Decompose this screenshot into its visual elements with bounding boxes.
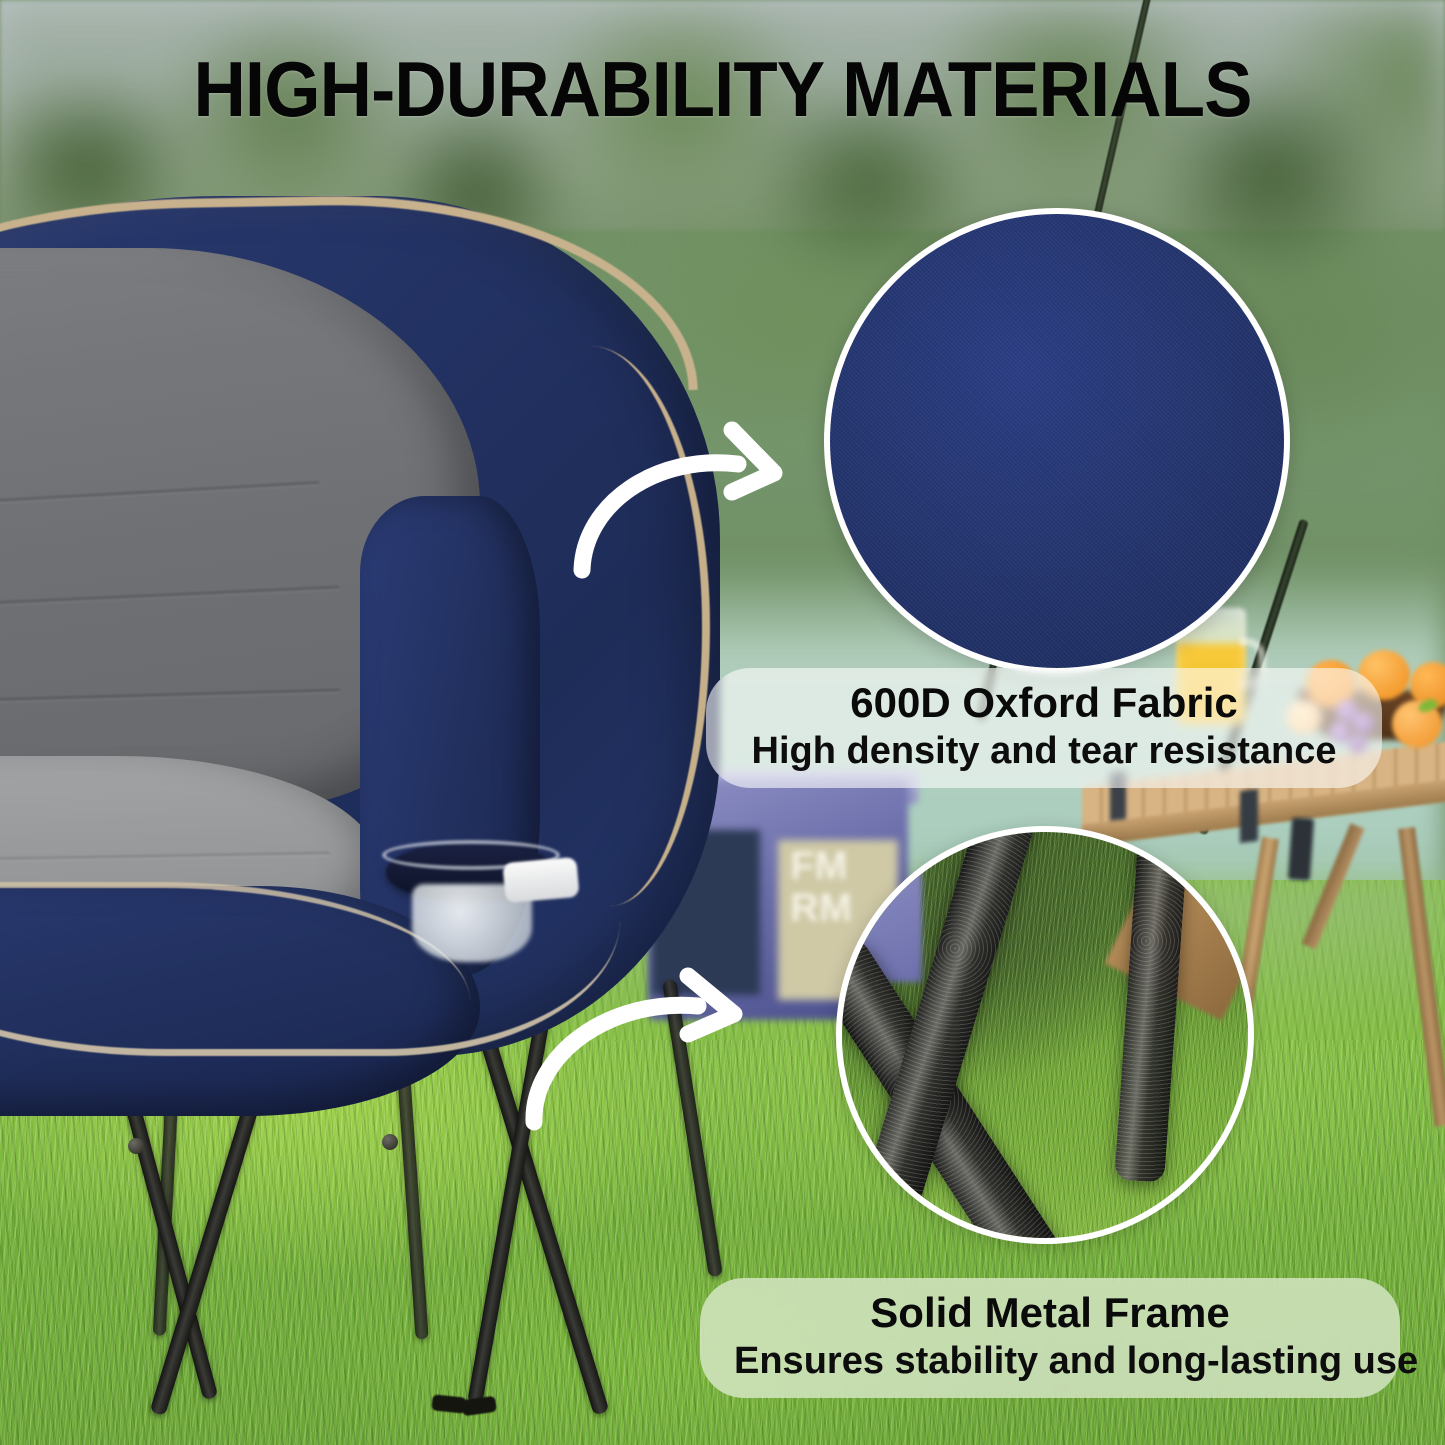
feature-subtitle: High density and tear resistance	[740, 728, 1348, 774]
fabric-swatch-circle	[824, 208, 1290, 674]
cushion-seam	[0, 689, 340, 715]
feature-label-frame: Solid Metal Frame Ensures stability and …	[700, 1278, 1400, 1398]
cushion-seam	[0, 482, 320, 529]
frame-cross-joint	[382, 1134, 398, 1150]
armrest-cap	[502, 857, 579, 903]
metal-tube-circle	[836, 826, 1254, 1244]
feature-label-fabric: 600D Oxford Fabric High density and tear…	[706, 668, 1382, 788]
feature-subtitle: Ensures stability and long-lasting use	[734, 1338, 1366, 1384]
table-bracket	[1288, 817, 1314, 880]
product-feature-image: FMRM	[0, 0, 1445, 1445]
cushion-seam	[0, 586, 340, 626]
feature-title: Solid Metal Frame	[734, 1288, 1366, 1338]
camping-chair: Outsunny	[0, 196, 770, 1076]
frame-cross-joint	[128, 1138, 144, 1154]
page-title: HIGH-DURABILITY MATERIALS	[51, 46, 1395, 132]
feature-title: 600D Oxford Fabric	[740, 678, 1348, 728]
